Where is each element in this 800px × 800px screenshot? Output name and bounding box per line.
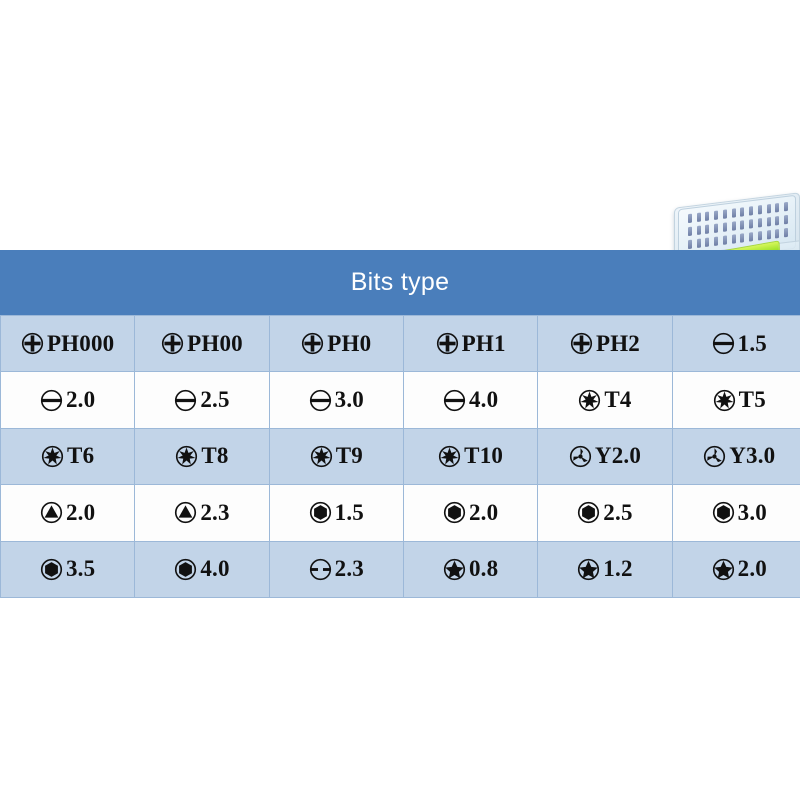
phillips-icon [301,332,324,355]
slotted-icon [443,389,466,412]
bit-cell-content: 1.5 [270,500,403,526]
hex-icon [712,501,735,524]
bit-cell[interactable]: 0.8 [403,541,537,597]
bit-cell-content: T10 [404,443,537,469]
bit-cell[interactable]: T10 [403,428,537,484]
bit-label: 2.5 [200,387,229,413]
bit-label: 4.0 [469,387,498,413]
slotted-icon [309,389,332,412]
bit-cell-content: T9 [270,443,403,469]
bit-label: 2.5 [603,500,632,526]
bit-cell[interactable]: 2.0 [672,541,800,597]
bit-label: PH00 [187,331,243,357]
bit-label: T5 [739,387,766,413]
bit-label: T6 [67,443,94,469]
bit-cell[interactable]: T4 [538,372,672,428]
torx-icon [41,445,64,468]
phillips-icon [436,332,459,355]
bit-label: Y2.0 [595,443,641,469]
bit-label: PH2 [596,331,640,357]
bit-cell[interactable]: PH1 [403,316,537,372]
bit-cell[interactable]: 3.0 [672,485,800,541]
bit-label: 2.3 [200,500,229,526]
bit-cell-content: T5 [673,387,800,413]
bit-cell-content: 2.5 [538,500,671,526]
bit-cell[interactable]: 2.0 [1,485,135,541]
tri-wing-icon [703,445,726,468]
bit-cell[interactable]: Y2.0 [538,428,672,484]
bit-cell-content: 0.8 [404,556,537,582]
slotted-icon [174,389,197,412]
table-row: 3.54.02.30.81.22.0 [1,541,800,597]
table-body: PH000PH00PH0PH1PH21.52.02.53.04.0T4T5T6T… [1,316,800,598]
bit-cell[interactable]: T5 [672,372,800,428]
bit-label: 4.0 [200,556,229,582]
pentalobe-icon [443,558,466,581]
table-row: T6T8T9T10Y2.0Y3.0 [1,428,800,484]
bit-cell-content: T8 [135,443,268,469]
bit-cell-content: 2.3 [135,500,268,526]
bit-label: 0.8 [469,556,498,582]
bit-cell-content: T4 [538,387,671,413]
bit-cell-content: PH2 [538,331,671,357]
table-row: PH000PH00PH0PH1PH21.5 [1,316,800,372]
torx-icon [713,389,736,412]
bit-cell[interactable]: 1.5 [269,485,403,541]
bit-label: 2.0 [469,500,498,526]
bit-cell-content: 2.0 [1,387,134,413]
triangle-icon [40,501,63,524]
bit-cell-content: 2.0 [673,556,800,582]
bit-label: 2.0 [66,500,95,526]
bit-label: Y3.0 [729,443,775,469]
bit-cell-content: T6 [1,443,134,469]
bit-cell[interactable]: T9 [269,428,403,484]
bit-cell-content: Y3.0 [673,443,800,469]
table-row: 2.02.53.04.0T4T5 [1,372,800,428]
bit-cell[interactable]: 2.5 [538,485,672,541]
bit-label: PH000 [47,331,114,357]
bit-cell-content: 2.3 [270,556,403,582]
bit-cell[interactable]: PH00 [135,316,269,372]
bit-cell-content: 2.0 [404,500,537,526]
triangle-icon [174,501,197,524]
bit-label: T9 [336,443,363,469]
bit-cell-content: 4.0 [404,387,537,413]
tri-wing-icon [569,445,592,468]
bit-label: T4 [604,387,631,413]
bit-cell[interactable]: 2.5 [135,372,269,428]
phillips-icon [21,332,44,355]
bit-cell-content: 3.0 [270,387,403,413]
bit-cell[interactable]: 1.5 [672,316,800,372]
slotted-icon [712,332,735,355]
pentalobe-icon [712,558,735,581]
bit-cell[interactable]: 2.3 [269,541,403,597]
bit-label: T10 [464,443,503,469]
bits-type-infographic: Bits type PH000PH00PH0PH1PH21.52.02.53.0… [0,0,800,800]
hex-icon [40,558,63,581]
bit-label: T8 [201,443,228,469]
bit-label: 3.5 [66,556,95,582]
bit-label: 3.0 [335,387,364,413]
hex-icon [174,558,197,581]
bit-cell[interactable]: T6 [1,428,135,484]
bit-label: 1.5 [335,500,364,526]
bit-cell[interactable]: T8 [135,428,269,484]
bits-type-table: PH000PH00PH0PH1PH21.52.02.53.04.0T4T5T6T… [0,315,800,598]
slotted-icon [40,389,63,412]
bit-cell[interactable]: 3.0 [269,372,403,428]
hex-icon [309,501,332,524]
bit-cell[interactable]: PH0 [269,316,403,372]
bit-cell-content: 1.2 [538,556,671,582]
bit-cell-content: 2.5 [135,387,268,413]
bit-cell[interactable]: 2.0 [403,485,537,541]
pentalobe-icon [577,558,600,581]
bit-cell-content: 1.5 [673,331,800,357]
bit-label: 2.3 [335,556,364,582]
bit-label: PH0 [327,331,371,357]
bit-cell[interactable]: 4.0 [135,541,269,597]
spanner-u-icon [309,558,332,581]
bit-cell[interactable]: PH000 [1,316,135,372]
bit-label: 3.0 [738,500,767,526]
hex-icon [577,501,600,524]
torx-icon [310,445,333,468]
torx-icon [175,445,198,468]
bit-cell-content: Y2.0 [538,443,671,469]
bit-cell[interactable]: 4.0 [403,372,537,428]
bit-cell[interactable]: 2.3 [135,485,269,541]
page-title: Bits type [351,268,450,297]
bit-cell[interactable]: 3.5 [1,541,135,597]
bit-cell-content: PH0 [270,331,403,357]
phillips-icon [161,332,184,355]
table-row: 2.02.31.52.02.53.0 [1,485,800,541]
bit-cell-content: PH00 [135,331,268,357]
bit-cell[interactable]: PH2 [538,316,672,372]
bit-cell[interactable]: 2.0 [1,372,135,428]
bit-label: 2.0 [738,556,767,582]
bit-cell-content: PH000 [1,331,134,357]
bit-cell-content: 3.5 [1,556,134,582]
phillips-icon [570,332,593,355]
bit-cell[interactable]: Y3.0 [672,428,800,484]
bit-cell-content: 2.0 [1,500,134,526]
bit-label: 1.5 [738,331,767,357]
header-band: Bits type [0,250,800,315]
bit-label: 2.0 [66,387,95,413]
torx-icon [578,389,601,412]
bit-cell-content: 4.0 [135,556,268,582]
torx-icon [438,445,461,468]
bit-cell-content: 3.0 [673,500,800,526]
bit-label: 1.2 [603,556,632,582]
bit-label: PH1 [462,331,506,357]
bit-cell[interactable]: 1.2 [538,541,672,597]
bit-cell-content: PH1 [404,331,537,357]
hex-icon [443,501,466,524]
